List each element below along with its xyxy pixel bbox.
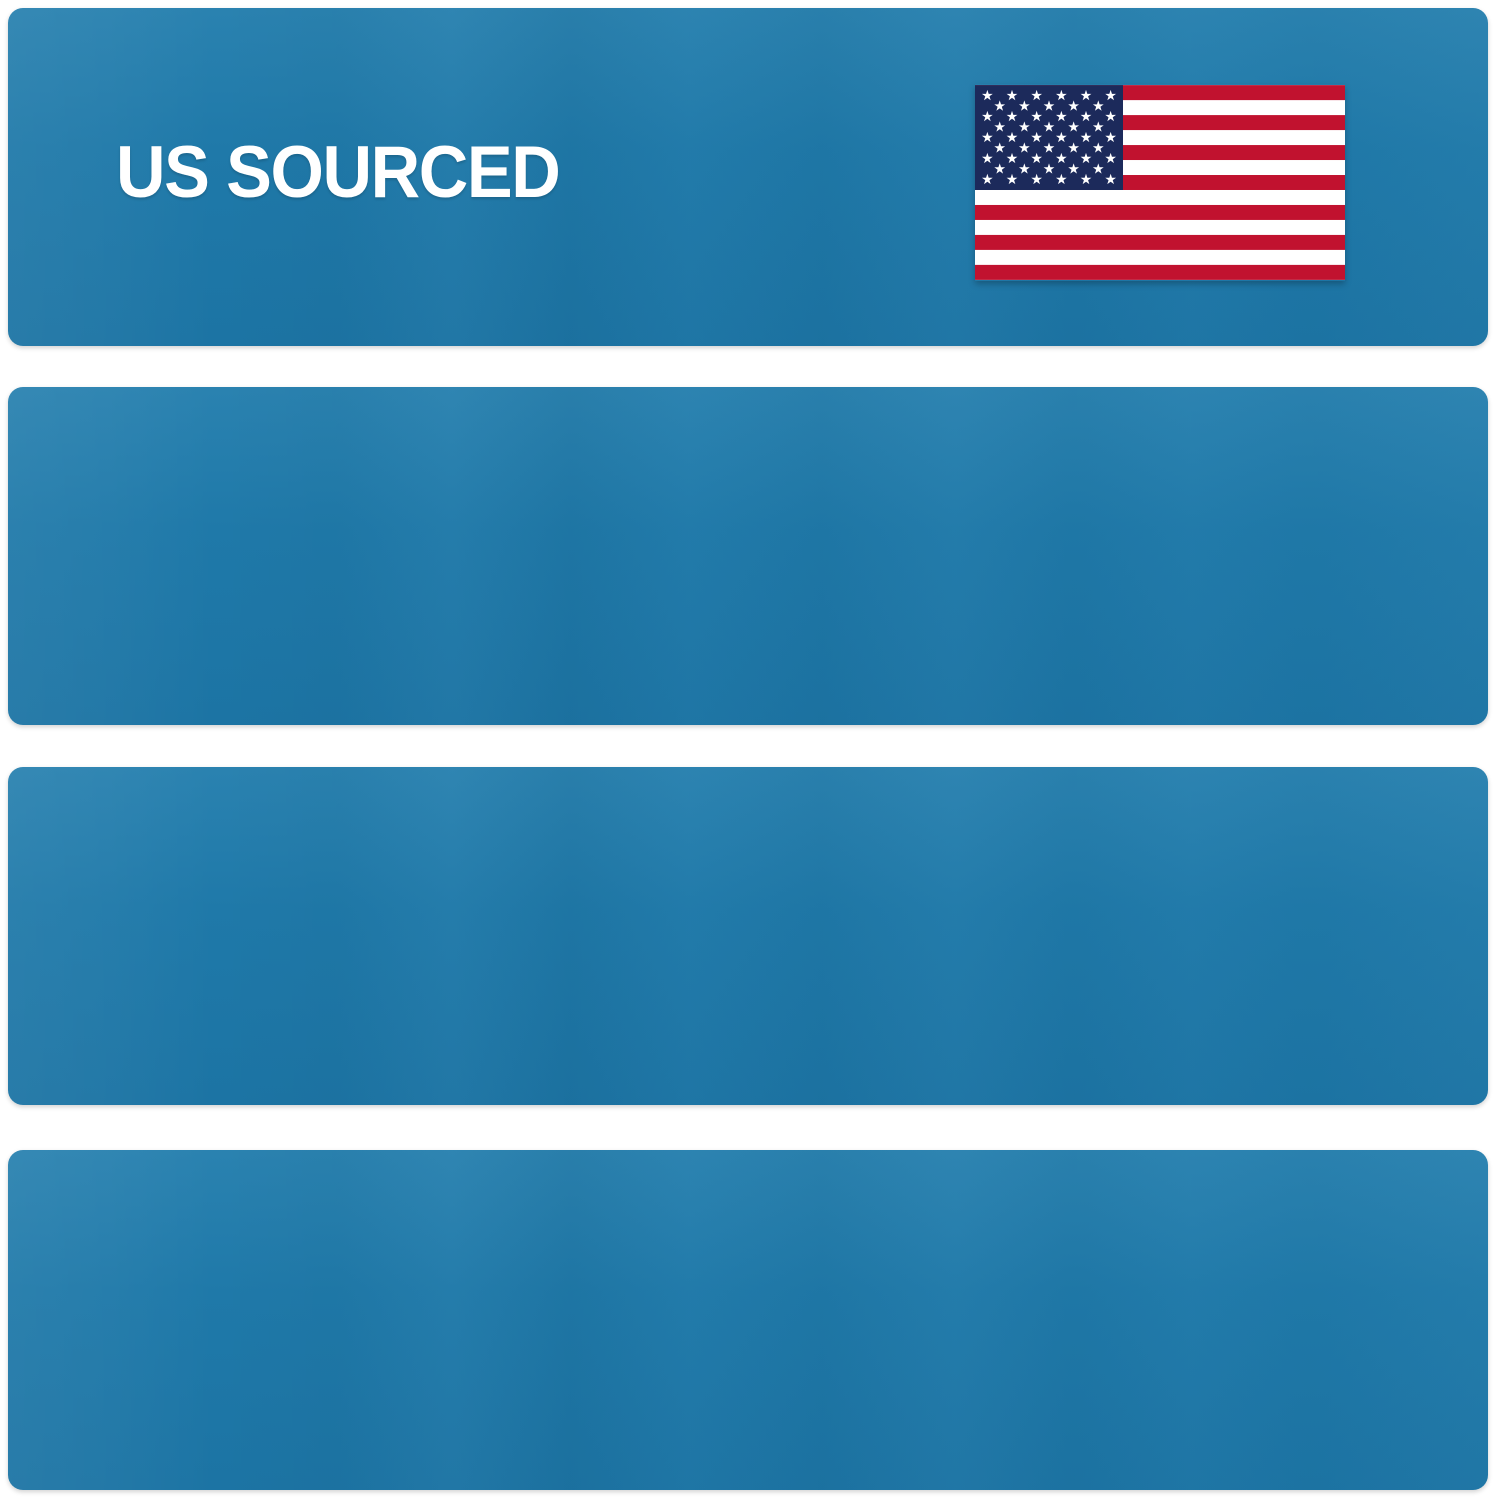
- page-title: US SOURCED: [116, 136, 559, 209]
- panel-waste-saving: A waste-saving, economical choice: [8, 1150, 1488, 1490]
- us-flag-icon: [975, 84, 1345, 281]
- panel-us-sourced: US SOURCED: [8, 8, 1488, 346]
- promo-feature-graphic: US SOURCED: [0, 0, 1496, 1500]
- panel-factory-offcuts: Sourced from factory off-cuts that are h…: [8, 387, 1488, 725]
- panel-boxed-shipped: Repurchased, boxed up and shipped by Ang…: [8, 767, 1488, 1105]
